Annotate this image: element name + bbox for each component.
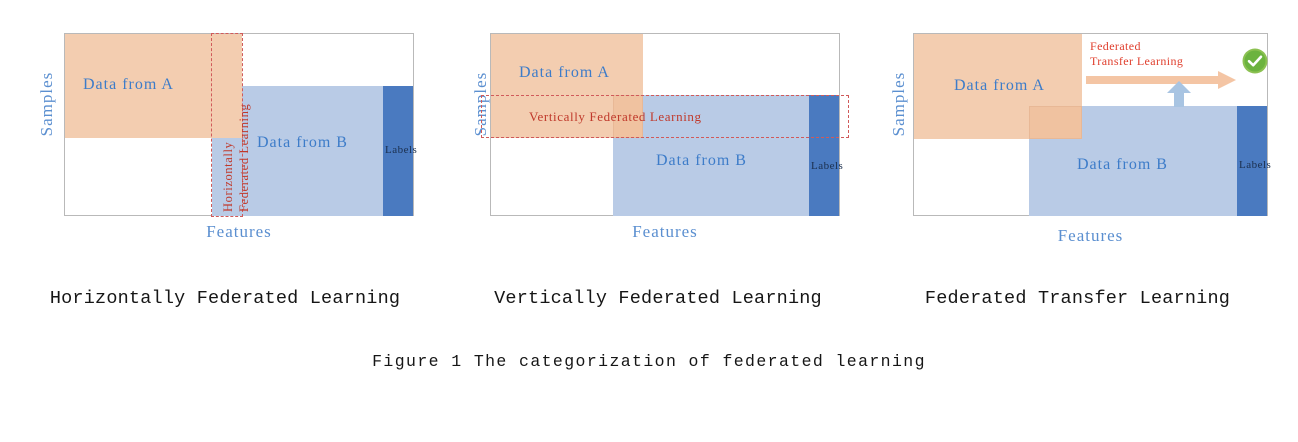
matrix-frame: Horizontally Federated Learning Data fro… xyxy=(64,33,414,216)
caption-panel-vertically-federated-learning: Vertically Federated Learning xyxy=(443,288,873,309)
panel-federated-transfer-learning: Samples Federated Transfer Learning xyxy=(865,0,1295,260)
annotation-text-line1: Vertically Federated Learning xyxy=(529,109,702,125)
caption-panel-horizontally-federated-learning: Horizontally Federated Learning xyxy=(10,288,440,309)
label-data-from-a: Data from A xyxy=(83,76,174,94)
label-labels: Labels xyxy=(1239,159,1271,171)
label-data-from-b: Data from B xyxy=(656,152,747,170)
block-overlap-region xyxy=(1029,106,1082,139)
federated-learning-figure: Samples Horizontally Federated Learning … xyxy=(0,0,1298,442)
annotation-text-line1: Horizontally xyxy=(221,142,236,212)
panel-horizontally-federated-learning: Samples Horizontally Federated Learning … xyxy=(10,0,440,260)
x-axis-label-features: Features xyxy=(913,226,1268,246)
matrix-frame: Vertically Federated Learning Data from … xyxy=(490,33,840,216)
caption-panel-federated-transfer-learning: Federated Transfer Learning xyxy=(865,288,1290,309)
label-data-from-b: Data from B xyxy=(1077,156,1168,174)
x-axis-label-features: Features xyxy=(490,222,840,242)
y-axis-label-samples: Samples xyxy=(37,62,57,146)
annotation-text-line1: Federated xyxy=(1090,39,1141,54)
label-labels: Labels xyxy=(385,144,417,156)
panel-vertically-federated-learning: Samples Vertically Federated Learning Da… xyxy=(445,0,875,260)
figure-caption: Figure 1 The categorization of federated… xyxy=(0,352,1298,371)
transfer-arrow-right-icon xyxy=(1086,71,1236,89)
x-axis-label-features: Features xyxy=(64,222,414,242)
label-data-from-b: Data from B xyxy=(257,134,348,152)
transfer-arrow-up-icon xyxy=(1167,81,1191,107)
label-labels: Labels xyxy=(811,160,843,172)
y-axis-label-samples: Samples xyxy=(889,62,909,146)
check-circle-icon xyxy=(1242,48,1268,74)
annotation-text-line2: Transfer Learning xyxy=(1090,54,1183,69)
matrix-frame: Federated Transfer Learning Data from A … xyxy=(913,33,1268,216)
label-data-from-a: Data from A xyxy=(519,64,610,82)
annotation-text-line2: Federated Learning xyxy=(237,104,252,212)
label-data-from-a: Data from A xyxy=(954,77,1045,95)
